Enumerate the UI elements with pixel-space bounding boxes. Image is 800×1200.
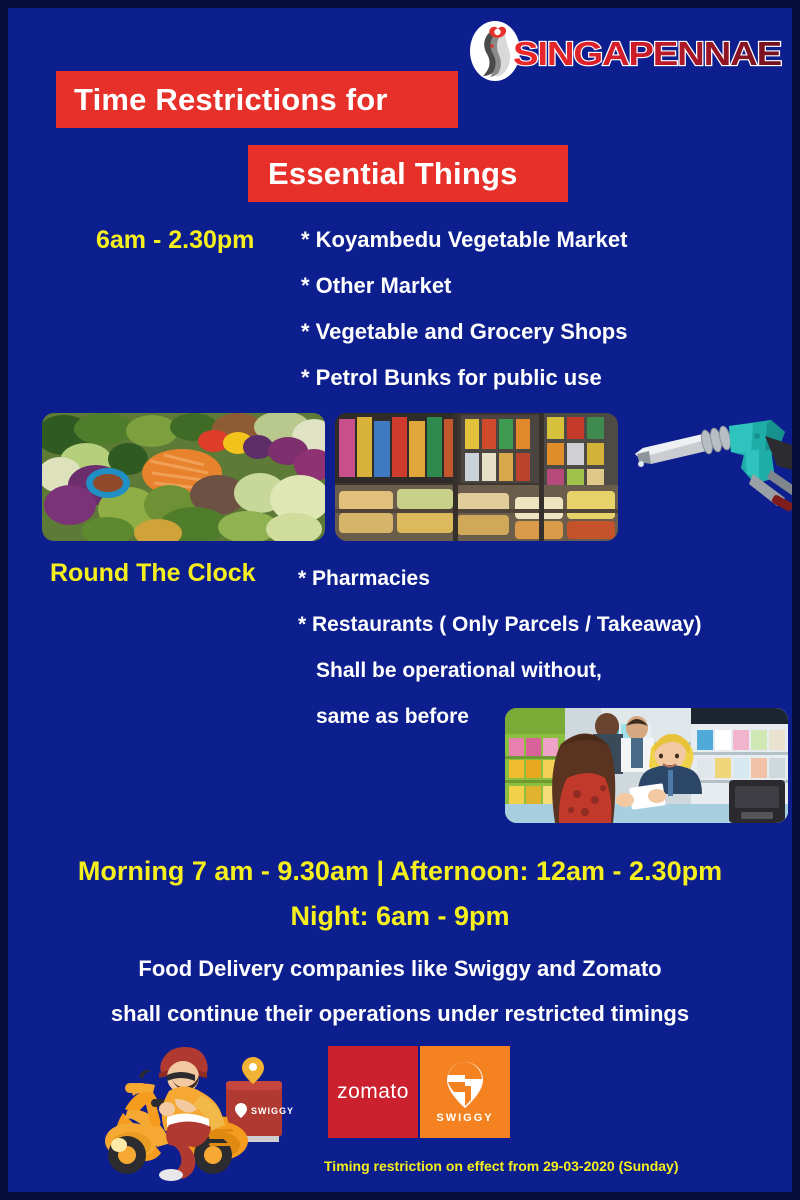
brand-wordmark: SINGAPENNAE xyxy=(513,34,785,74)
pharmacy-counter-photo xyxy=(505,708,788,823)
brand-wordmark-text: SINGAPENNAE xyxy=(513,35,781,72)
brand-logo: SINGAPENNAE xyxy=(463,20,788,82)
swiggy-logo-text: SWIGGY xyxy=(436,1112,493,1124)
delivery-timing-line1: Morning 7 am - 9.30am | Afternoon: 12am … xyxy=(8,856,792,887)
swiggy-logo: SWIGGY xyxy=(420,1046,510,1138)
title-banner-line1: Time Restrictions for xyxy=(56,71,458,128)
list-item: * Other Market xyxy=(301,273,451,299)
delivery-timing-line2: Night: 6am - 9pm xyxy=(8,901,792,932)
title-banner-line2: Essential Things xyxy=(248,145,568,202)
fuel-nozzle-image xyxy=(625,406,792,516)
list-item: * Restaurants ( Only Parcels / Takeaway) xyxy=(298,613,701,637)
list-item: same as before xyxy=(316,705,469,729)
zomato-logo-text: zomato xyxy=(337,1080,409,1104)
list-item: * Vegetable and Grocery Shops xyxy=(301,319,627,345)
delivery-note-line1: Food Delivery companies like Swiggy and … xyxy=(8,956,792,982)
delivery-scooter-rider-illustration: SWIGGY xyxy=(83,1033,313,1183)
list-item: * Pharmacies xyxy=(298,567,430,591)
customer-figure xyxy=(552,733,615,823)
svg-text:SWIGGY: SWIGGY xyxy=(251,1106,294,1116)
grocery-shop-photo xyxy=(335,413,618,541)
time-label-slot1: 6am - 2.30pm xyxy=(96,226,254,255)
poster-canvas: SINGAPENNAE Time Restrictions for Essent… xyxy=(8,8,792,1192)
list-item: Shall be operational without, xyxy=(316,659,602,683)
list-item: * Koyambedu Vegetable Market xyxy=(301,227,627,253)
food-delivery-brand-logos: zomato SWIGGY xyxy=(328,1046,510,1138)
delivery-note-line2: shall continue their operations under re… xyxy=(8,1001,792,1027)
zomato-logo: zomato xyxy=(328,1046,418,1138)
time-label-slot2: Round The Clock xyxy=(50,559,256,588)
vegetable-market-photo xyxy=(42,413,325,541)
footer-note: Timing restriction on effect from 29-03-… xyxy=(324,1158,679,1174)
swiggy-pin-icon xyxy=(443,1060,487,1108)
list-item: * Petrol Bunks for public use xyxy=(301,365,602,391)
